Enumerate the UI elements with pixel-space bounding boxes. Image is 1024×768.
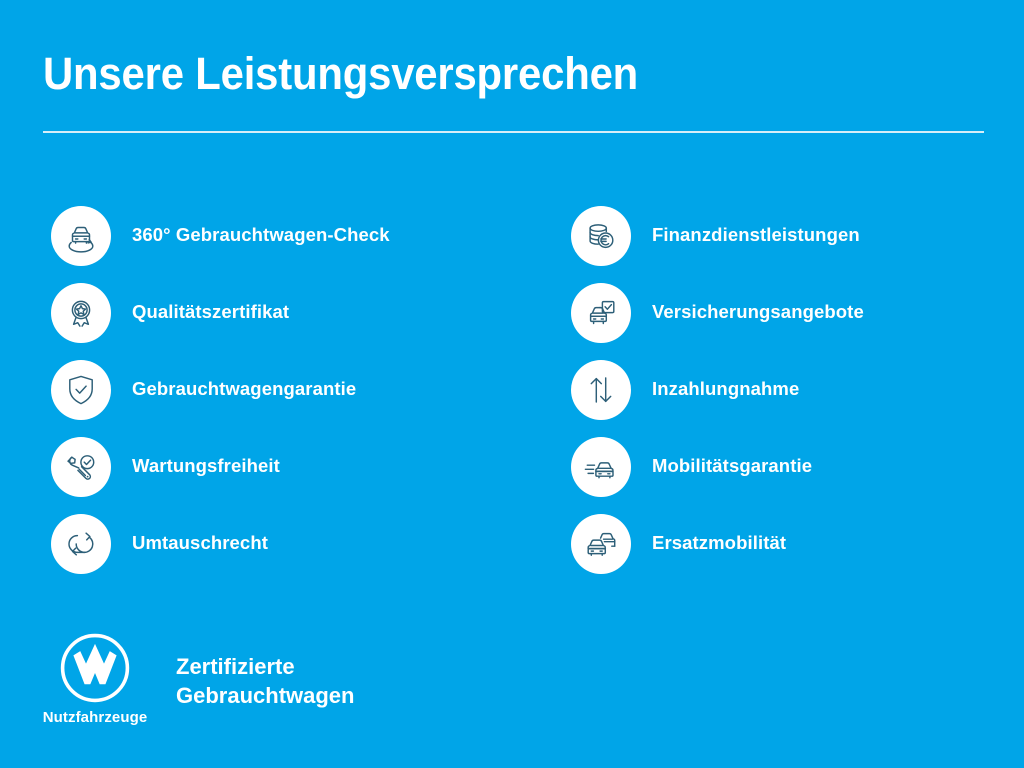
feature-item-finanzdienstleistungen[interactable]: Finanzdienstleistungen	[571, 197, 1024, 274]
feature-label: Umtauschrecht	[132, 532, 268, 554]
brand-claim: Zertifizierte Gebrauchtwagen	[176, 652, 354, 710]
brand-sub-label: Nutzfahrzeuge	[43, 709, 148, 726]
feature-list: 360° Gebrauchtwagen-Check Qualitätszerti…	[0, 197, 1024, 582]
vw-roundel-logo	[59, 632, 131, 704]
two-cars-icon	[571, 514, 631, 574]
shield-check-icon	[51, 360, 111, 420]
coins-euro-icon	[571, 206, 631, 266]
feature-label: Finanzdienstleistungen	[652, 224, 860, 246]
slide-header: Unsere Leistungsversprechen	[43, 50, 984, 99]
feature-item-umtauschrecht[interactable]: Umtauschrecht	[51, 505, 512, 582]
feature-label: Mobilitätsgarantie	[652, 455, 812, 477]
feature-label: Gebrauchtwagengarantie	[132, 378, 356, 400]
car-360-check-icon	[51, 206, 111, 266]
feature-label: Wartungsfreiheit	[132, 455, 280, 477]
feature-item-qualitaetszertifikat[interactable]: Qualitätszertifikat	[51, 274, 512, 351]
feature-column-left: 360° Gebrauchtwagen-Check Qualitätszerti…	[0, 197, 512, 582]
brand-claim-line-1: Zertifizierte	[176, 652, 354, 681]
brand-lockup: Nutzfahrzeuge Zertifizierte Gebrauchtwag…	[43, 632, 354, 726]
arrows-up-down-icon	[571, 360, 631, 420]
feature-item-mobilitaetsgarantie[interactable]: Mobilitätsgarantie	[571, 428, 1024, 505]
wrench-check-icon	[51, 437, 111, 497]
feature-item-ersatzmobilitaet[interactable]: Ersatzmobilität	[571, 505, 1024, 582]
brand-claim-line-2: Gebrauchtwagen	[176, 681, 354, 710]
car-clipboard-check-icon	[571, 283, 631, 343]
title-divider	[43, 131, 984, 133]
feature-column-right: Finanzdienstleistungen	[512, 197, 1024, 582]
feature-item-inzahlungnahme[interactable]: Inzahlungnahme	[571, 351, 1024, 428]
feature-label: 360° Gebrauchtwagen-Check	[132, 224, 390, 246]
feature-item-gebrauchtwagengarantie[interactable]: Gebrauchtwagengarantie	[51, 351, 512, 428]
feature-label: Versicherungsangebote	[652, 301, 864, 323]
brand-mark: Nutzfahrzeuge	[43, 632, 147, 726]
slide-root: Unsere Leistungsversprechen	[0, 0, 1024, 768]
feature-item-versicherungsangebote[interactable]: Versicherungsangebote	[571, 274, 1024, 351]
feature-item-wartungsfreiheit[interactable]: Wartungsfreiheit	[51, 428, 512, 505]
feature-item-gebrauchtwagen-check[interactable]: 360° Gebrauchtwagen-Check	[51, 197, 512, 274]
page-title: Unsere Leistungsversprechen	[43, 50, 918, 99]
feature-label: Ersatzmobilität	[652, 532, 786, 554]
feature-label: Inzahlungnahme	[652, 378, 799, 400]
award-rosette-icon	[51, 283, 111, 343]
feature-label: Qualitätszertifikat	[132, 301, 289, 323]
exchange-arrows-icon	[51, 514, 111, 574]
car-speed-icon	[571, 437, 631, 497]
